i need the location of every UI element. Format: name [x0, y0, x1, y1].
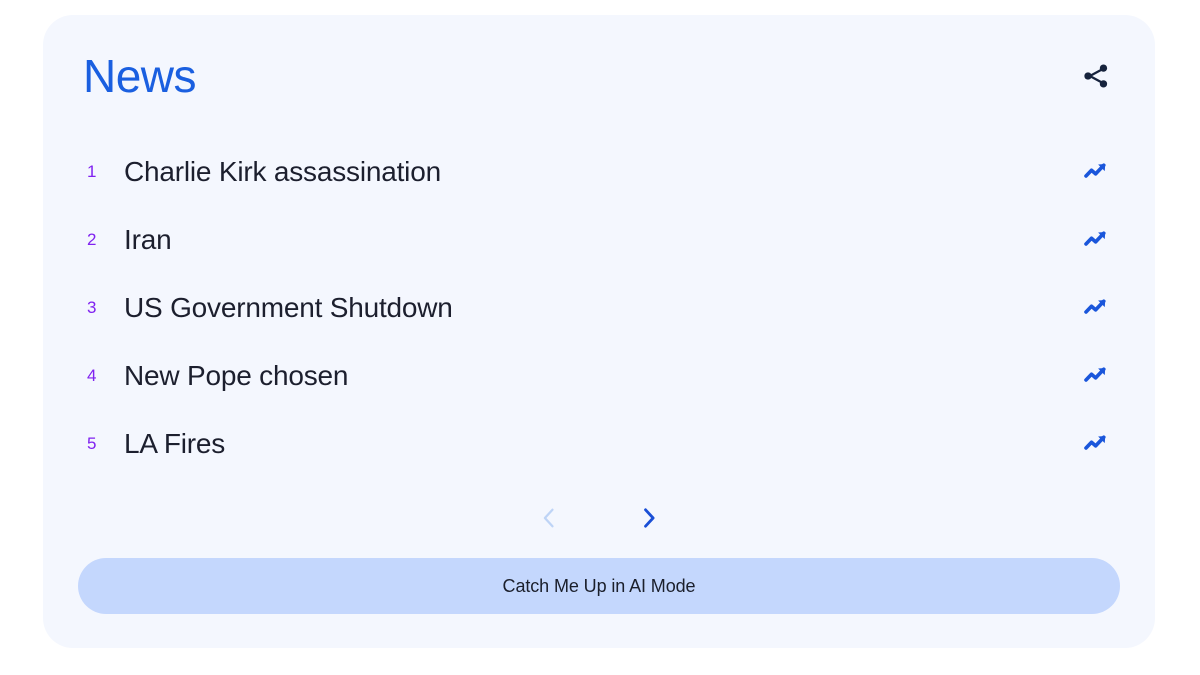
share-button[interactable]: [1071, 51, 1121, 101]
trending-up-icon: [1082, 157, 1112, 187]
list-item[interactable]: 5 LA Fires: [43, 410, 1155, 478]
list-item[interactable]: 2 Iran: [43, 206, 1155, 274]
chevron-right-icon: [636, 502, 662, 534]
trend-rank: 4: [84, 366, 112, 386]
trend-label: New Pope chosen: [112, 359, 1075, 393]
list-item[interactable]: 1 Charlie Kirk assassination: [43, 138, 1155, 206]
trending-up-icon: [1082, 293, 1112, 323]
trending-up-button[interactable]: [1075, 354, 1119, 398]
trending-up-button[interactable]: [1075, 286, 1119, 330]
trending-up-button[interactable]: [1075, 422, 1119, 466]
trend-rank: 2: [84, 230, 112, 250]
trend-list: 1 Charlie Kirk assassination 2 Iran: [43, 138, 1155, 478]
list-item[interactable]: 4 New Pope chosen: [43, 342, 1155, 410]
pagination: [43, 490, 1155, 546]
prev-page-button[interactable]: [528, 494, 570, 542]
card-header: News: [83, 43, 1115, 109]
chevron-left-icon: [536, 502, 562, 534]
trending-up-button[interactable]: [1075, 218, 1119, 262]
trend-label: Iran: [112, 223, 1075, 257]
page-root: News 1 Charlie Kirk assassination: [0, 0, 1200, 675]
trending-up-icon: [1082, 429, 1112, 459]
share-icon: [1080, 60, 1112, 92]
trend-rank: 3: [84, 298, 112, 318]
trend-rank: 5: [84, 434, 112, 454]
trend-label: US Government Shutdown: [112, 291, 1075, 325]
news-trends-card: News 1 Charlie Kirk assassination: [43, 15, 1155, 648]
trend-label: LA Fires: [112, 427, 1075, 461]
trend-label: Charlie Kirk assassination: [112, 155, 1075, 189]
trending-up-icon: [1082, 361, 1112, 391]
list-item[interactable]: 3 US Government Shutdown: [43, 274, 1155, 342]
trending-up-icon: [1082, 225, 1112, 255]
trend-rank: 1: [84, 162, 112, 182]
trending-up-button[interactable]: [1075, 150, 1119, 194]
page-title: News: [83, 50, 196, 102]
catch-me-up-button[interactable]: Catch Me Up in AI Mode: [78, 558, 1120, 614]
next-page-button[interactable]: [628, 494, 670, 542]
